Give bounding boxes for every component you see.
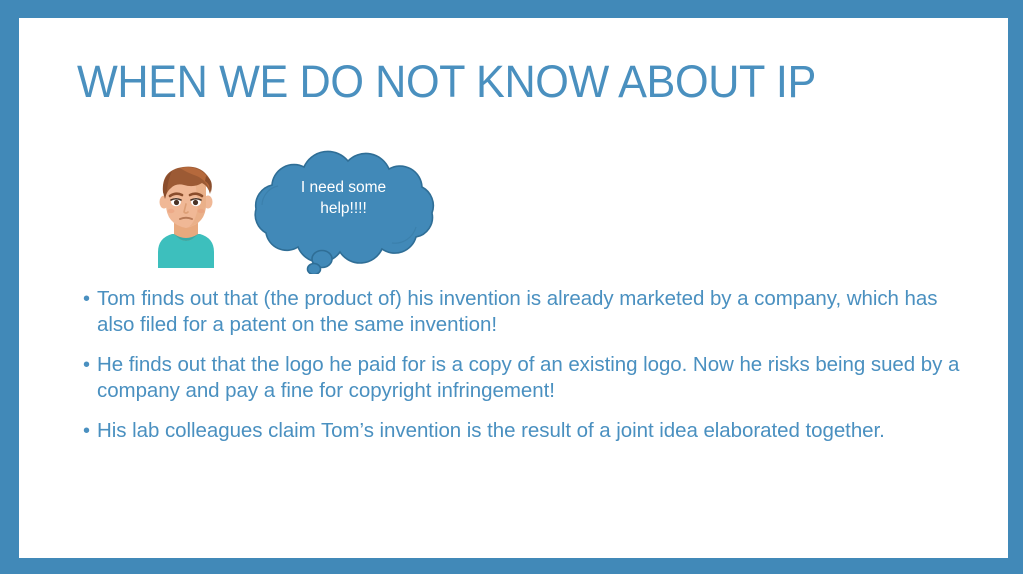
- list-item-text: Tom finds out that (the product of) his …: [97, 286, 967, 338]
- slide-canvas: WHEN WE DO NOT KNOW ABOUT IP: [19, 18, 1008, 558]
- list-item: • Tom finds out that (the product of) hi…: [77, 286, 967, 338]
- page-title: WHEN WE DO NOT KNOW ABOUT IP: [77, 56, 922, 108]
- avatar-illustration: [136, 158, 236, 268]
- bullet-marker-icon: •: [77, 286, 97, 312]
- avatar: [136, 158, 236, 268]
- list-item-text: He finds out that the logo he paid for i…: [97, 352, 967, 404]
- thought-cloud-shape: [226, 149, 461, 274]
- list-item: • His lab colleagues claim Tom’s inventi…: [77, 418, 967, 444]
- bullet-marker-icon: •: [77, 352, 97, 378]
- bullet-marker-icon: •: [77, 418, 97, 444]
- thought-bubble: I need some help!!!!: [226, 149, 461, 274]
- list-item: • He finds out that the logo he paid for…: [77, 352, 967, 404]
- list-item-text: His lab colleagues claim Tom’s invention…: [97, 418, 967, 444]
- bullet-list: • Tom finds out that (the product of) hi…: [77, 286, 967, 458]
- slide-frame: WHEN WE DO NOT KNOW ABOUT IP: [0, 0, 1023, 574]
